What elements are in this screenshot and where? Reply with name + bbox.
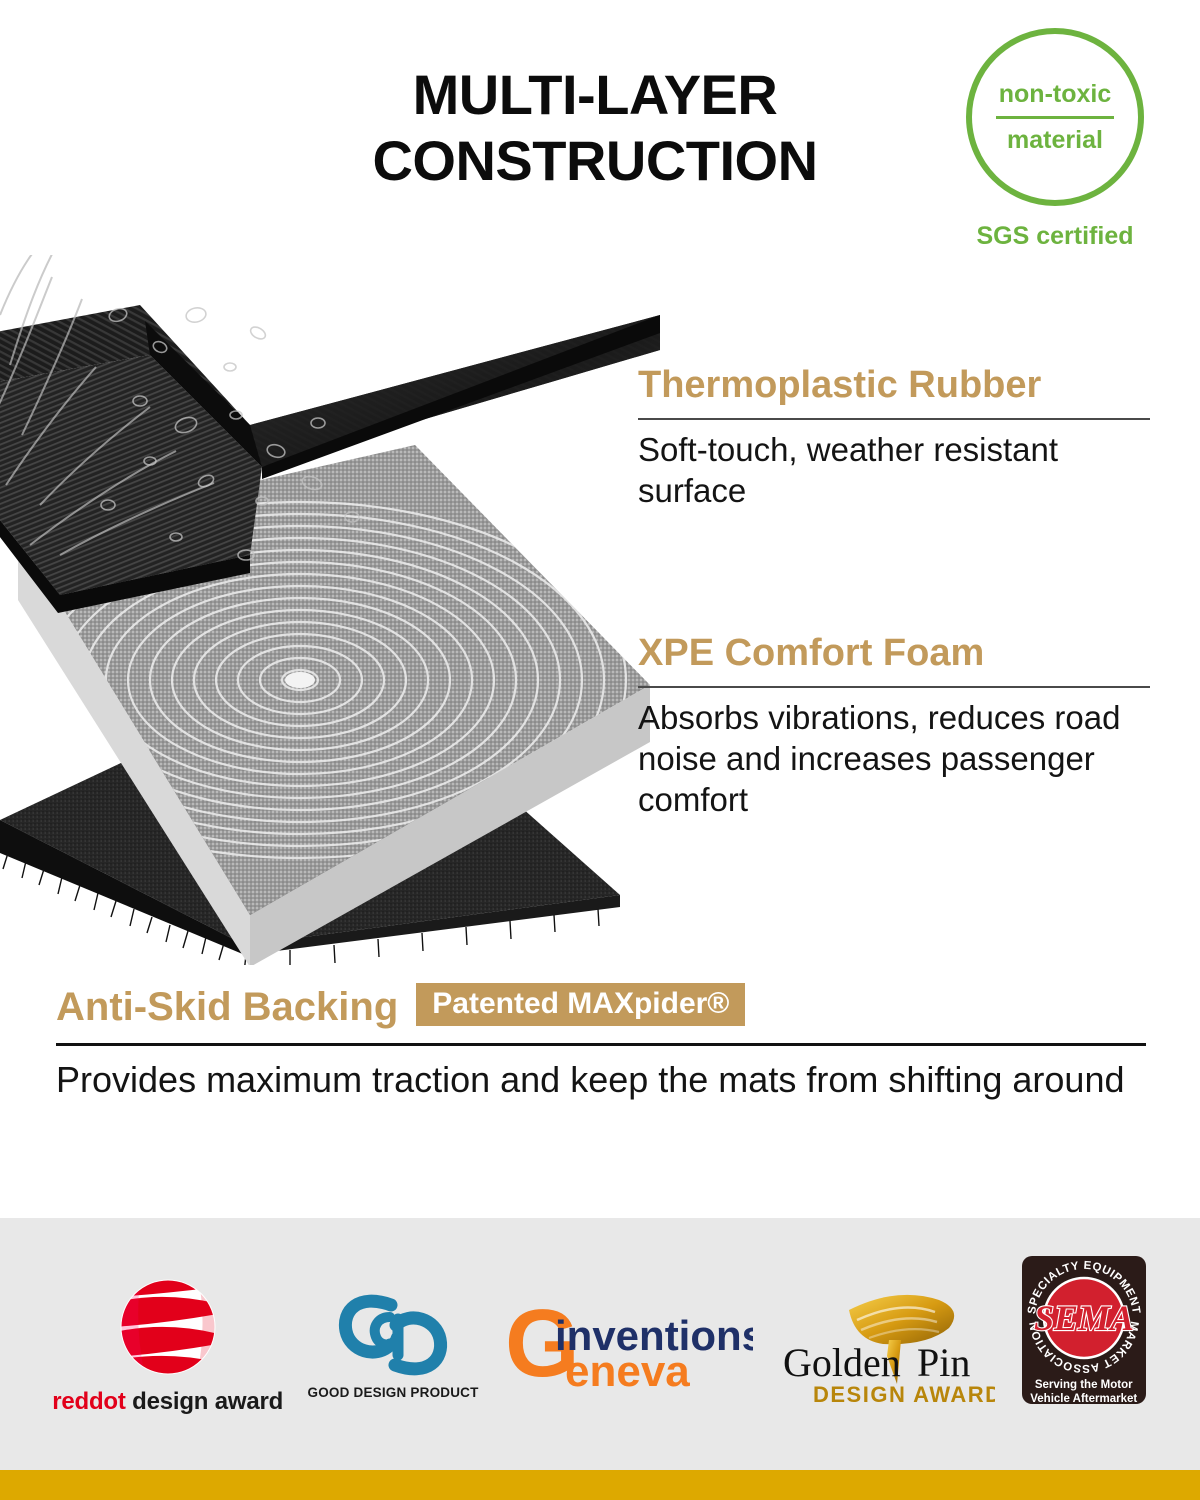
- award-logo-reddot: reddot design award: [52, 1272, 283, 1416]
- section-divider: [56, 1043, 1146, 1046]
- page-title-line2: CONSTRUCTION: [300, 128, 890, 194]
- golden-word: Golden: [783, 1340, 901, 1385]
- award-logo-sema: SPECIALTY EQUIPMENT MARKET ASSOCIATION S…: [1020, 1254, 1148, 1435]
- golden-pin-logo: Golden Pin DESIGN AWARD: [777, 1280, 995, 1408]
- section-body: Provides maximum traction and keep the m…: [56, 1058, 1146, 1103]
- page-title-line1: MULTI-LAYER: [300, 62, 890, 128]
- reddot-rest-text: design award: [126, 1388, 283, 1415]
- infographic-page: MULTI-LAYER CONSTRUCTION non-toxic mater…: [0, 0, 1200, 1500]
- section-body: Soft-touch, weather resistant surface: [638, 429, 1150, 512]
- award-logo-good-design-product: GOOD DESIGN PRODUCT: [308, 1289, 479, 1400]
- reddot-dot-text: dot: [89, 1388, 126, 1415]
- section-heading: Thermoplastic Rubber: [638, 365, 1150, 407]
- award-logo-golden-pin: Golden Pin DESIGN AWARD: [777, 1280, 995, 1408]
- reddot-red-text: red: [52, 1388, 89, 1415]
- pin-word: Pin: [917, 1340, 970, 1385]
- badge-line-non-toxic: non-toxic: [999, 80, 1112, 109]
- section-heading: Anti-Skid Backing Patented MAXpider®: [56, 985, 1146, 1029]
- section-heading-text: XPE Comfort Foam: [638, 633, 984, 675]
- awards-footer: reddot design award GOOD DESIGN PRODUCT …: [0, 1218, 1200, 1470]
- section-divider: [638, 686, 1150, 688]
- good-design-caption: GOOD DESIGN PRODUCT: [308, 1385, 479, 1400]
- golden-pin-subtitle: DESIGN AWARD: [813, 1382, 995, 1407]
- section-thermoplastic-rubber: Thermoplastic Rubber Soft-touch, weather…: [638, 365, 1150, 511]
- badge-divider: [996, 116, 1114, 119]
- sema-subtitle-line2: Vehicle Aftermarket: [1030, 1392, 1137, 1406]
- sema-center-word: SEMA: [1034, 1298, 1134, 1338]
- non-toxic-badge: non-toxic material SGS certified: [950, 28, 1160, 251]
- inventions-geneva-wordmark: G inventions eneva: [503, 1294, 753, 1394]
- bottom-gold-bar: [0, 1470, 1200, 1500]
- eneva-word: eneva: [565, 1347, 690, 1394]
- sgs-certified-label: SGS certified: [950, 222, 1160, 251]
- sema-subtitle: Serving the Motor Vehicle Aftermarket: [1030, 1378, 1137, 1407]
- badge-circle: non-toxic material: [966, 28, 1144, 206]
- product-layer-illustration: [0, 255, 660, 965]
- good-design-gd-icon: [328, 1289, 458, 1381]
- section-anti-skid-backing: Anti-Skid Backing Patented MAXpider® Pro…: [56, 985, 1146, 1103]
- section-heading-text: Thermoplastic Rubber: [638, 365, 1041, 407]
- awards-logo-row: reddot design award GOOD DESIGN PRODUCT …: [0, 1218, 1200, 1470]
- section-divider: [638, 418, 1150, 420]
- reddot-sphere-icon: [109, 1272, 227, 1382]
- section-heading-text: Anti-Skid Backing: [56, 985, 398, 1029]
- section-xpe-comfort-foam: XPE Comfort Foam Absorbs vibrations, red…: [638, 633, 1150, 821]
- award-logo-inventions-geneva: G inventions eneva: [503, 1294, 753, 1394]
- section-heading: XPE Comfort Foam: [638, 633, 1150, 675]
- badge-line-material: material: [1007, 126, 1103, 155]
- page-title: MULTI-LAYER CONSTRUCTION: [300, 62, 890, 193]
- sema-subtitle-line1: Serving the Motor: [1030, 1378, 1137, 1392]
- section-body: Absorbs vibrations, reduces road noise a…: [638, 697, 1150, 821]
- patented-maxpider-badge: Patented MAXpider®: [416, 983, 745, 1026]
- reddot-wordmark: reddot design award: [52, 1388, 283, 1416]
